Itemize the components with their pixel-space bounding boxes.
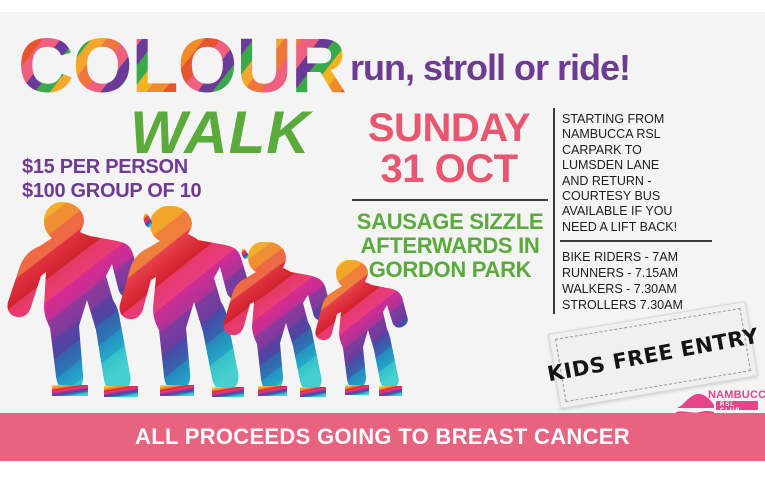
start-time-row: RUNNERS - 7.15AM [562, 265, 722, 281]
route-line: NEED A LIFT BACK! [562, 220, 722, 235]
route-line: AND RETURN - [562, 174, 722, 189]
start-time-row: WALKERS - 7.30AM [562, 281, 722, 297]
poster-canvas: COLOUR WALK $15 PER PERSON $100 GROUP OF… [0, 0, 765, 496]
price-line-person: $15 PER PERSON [22, 155, 201, 179]
route-line: NAMBUCCA RSL [562, 127, 722, 142]
route-line: LUMSDEN LANE [562, 158, 722, 173]
route-line: AVAILABLE IF YOU [562, 204, 722, 219]
right-column-vertical-divider [553, 108, 555, 314]
right-column-horizontal-divider [560, 240, 712, 242]
runner-4 [315, 260, 407, 396]
breast-cancer-banner: ALL PROCEEDS GOING TO BREAST CANCER [0, 413, 765, 461]
tagline: run, stroll or ride! [350, 47, 630, 89]
event-date-block: SUNDAY 31 OCT [350, 108, 548, 190]
route-line: COURTESY BUS [562, 189, 722, 204]
route-line: STARTING FROM [562, 112, 722, 127]
start-time-row: BIKE RIDERS - 7AM [562, 249, 722, 265]
runners-svg [0, 180, 470, 420]
banner-text: ALL PROCEEDS GOING TO BREAST CANCER [135, 424, 630, 450]
route-line: CARPARK TO [562, 143, 722, 158]
route-information: STARTING FROM NAMBUCCA RSL CARPARK TO LU… [562, 112, 722, 235]
logo-colour-word: COLOUR [18, 26, 346, 106]
runner-silhouettes [0, 180, 470, 420]
colour-walk-logo: COLOUR WALK [18, 26, 348, 146]
top-white-strip [0, 0, 765, 12]
start-times-list: BIKE RIDERS - 7AM RUNNERS - 7.15AM WALKE… [562, 249, 722, 313]
bottom-white-strip [0, 461, 765, 496]
sponsor-name: NAMBUCCA [708, 390, 765, 401]
date-day: SUNDAY [350, 108, 548, 149]
